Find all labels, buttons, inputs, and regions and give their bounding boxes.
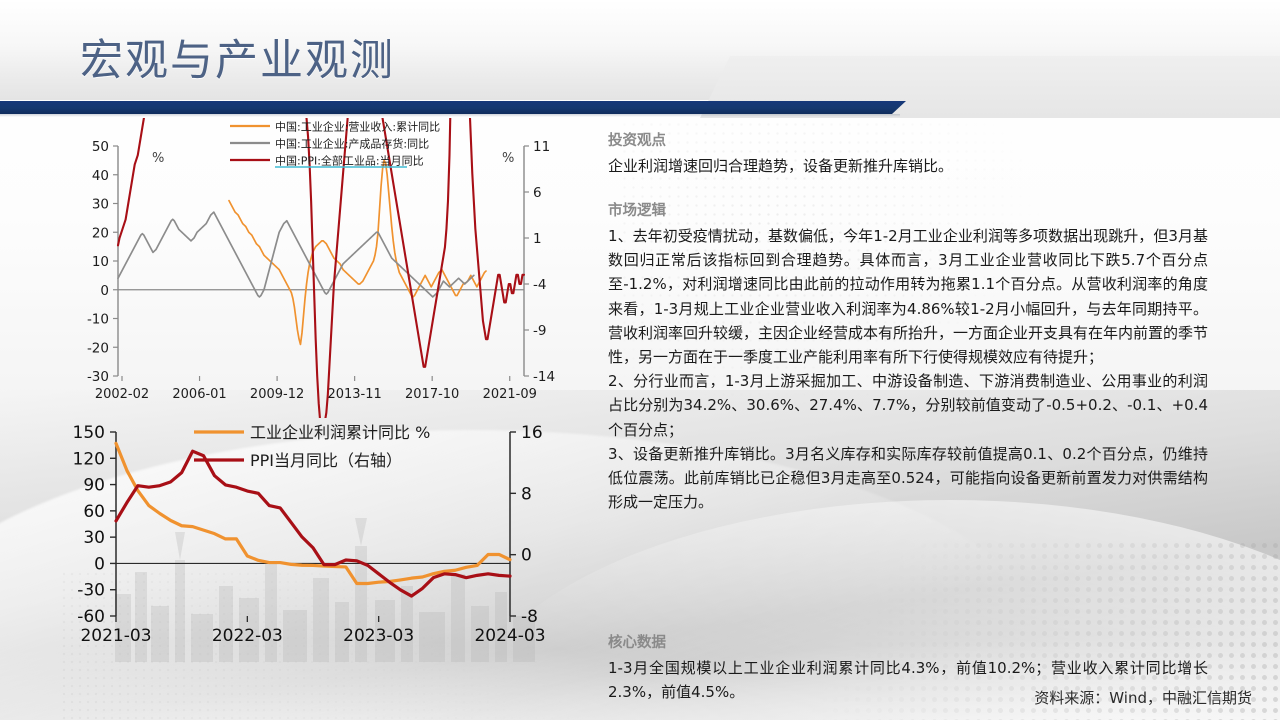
investment-view-heading: 投资观点 xyxy=(608,130,1208,152)
chart-bottom-svg: -60-300306090120150-808162021-032022-032… xyxy=(48,420,588,670)
investment-view-block: 投资观点 企业利润增速回归合理趋势，设备更新推升库销比。 xyxy=(608,130,1208,178)
y-axis-unit-left: % xyxy=(152,151,164,166)
ytick-label-left: 120 xyxy=(73,449,105,469)
xtick-label: 2002-02 xyxy=(95,387,149,402)
xtick-label: 2024-03 xyxy=(474,626,545,646)
chart-legend: 中国:工业企业:营业收入:累计同比中国:工业企业:产成品存货:同比中国:PPI:… xyxy=(230,120,440,168)
slide-root: 宏观与产业观测 -30-20-1001020304050-14-9-41611%… xyxy=(0,0,1280,720)
ytick-label-right: 6 xyxy=(533,185,542,201)
ytick-label-left: 30 xyxy=(92,197,109,213)
ytick-label-right: -4 xyxy=(533,277,546,293)
chart-legend: 工业企业利润累计同比 %PPI当月同比（右轴） xyxy=(194,423,430,470)
xtick-label: 2021-03 xyxy=(80,626,151,646)
investment-view-body: 企业利润增速回归合理趋势，设备更新推升库销比。 xyxy=(608,154,1208,178)
ytick-label-left: -20 xyxy=(87,340,109,356)
ytick-label-left: -10 xyxy=(87,312,109,328)
ytick-label-left: 20 xyxy=(92,225,109,241)
ytick-label-left: 90 xyxy=(83,476,105,496)
ytick-label-right: 16 xyxy=(521,423,543,443)
ytick-label-right: 11 xyxy=(533,139,550,155)
xtick-label: 2017-10 xyxy=(405,387,459,402)
ytick-label-left: -30 xyxy=(87,369,109,385)
market-logic-block: 市场逻辑 1、去年初受疫情扰动，基数偏低，今年1-2月工业企业利润等多项数据出现… xyxy=(608,200,1208,514)
market-logic-heading: 市场逻辑 xyxy=(608,200,1208,222)
xtick-label: 2023-03 xyxy=(343,626,414,646)
ytick-label-left: 50 xyxy=(92,139,109,155)
slide-header: 宏观与产业观测 xyxy=(0,0,1280,118)
ytick-label-left: 0 xyxy=(94,554,105,574)
legend-label-1: PPI当月同比（右轴） xyxy=(250,451,402,470)
ytick-label-left: 0 xyxy=(100,283,109,299)
header-band-shadow xyxy=(0,114,900,117)
xtick-label: 2006-01 xyxy=(172,387,226,402)
legend-label-0: 中国:工业企业:营业收入:累计同比 xyxy=(275,120,440,134)
chart-top-container: -30-20-1001020304050-14-9-41611%%2002-02… xyxy=(62,118,582,418)
source-note: 资料来源：Wind，中融汇信期货 xyxy=(1034,687,1252,708)
ytick-label-right: -8 xyxy=(521,607,538,627)
ytick-label-right: 0 xyxy=(521,546,532,566)
legend-label-1: 中国:工业企业:产成品存货:同比 xyxy=(275,137,429,151)
legend-label-2: 中国:PPI:全部工业品:当月同比 xyxy=(275,154,424,168)
page-title: 宏观与产业观测 xyxy=(80,34,395,88)
xtick-label: 2013-11 xyxy=(327,387,381,402)
chart-top-svg: -30-20-1001020304050-14-9-41611%%2002-02… xyxy=(62,118,582,418)
ytick-label-right: -14 xyxy=(533,369,555,385)
y-axis-unit-right: % xyxy=(502,151,514,166)
ytick-label-right: -9 xyxy=(533,323,546,339)
xtick-label: 2021-09 xyxy=(483,387,537,402)
ytick-label-left: -30 xyxy=(77,581,105,601)
chart-bottom-container: -60-300306090120150-808162021-032022-032… xyxy=(48,420,588,670)
ytick-label-left: 40 xyxy=(92,168,109,184)
ytick-label-left: 30 xyxy=(83,528,105,548)
ytick-label-right: 8 xyxy=(521,484,532,504)
ytick-label-left: 60 xyxy=(83,502,105,522)
series-line-1 xyxy=(118,212,474,297)
ytick-label-left: 10 xyxy=(92,254,109,270)
ytick-label-left: -60 xyxy=(77,607,105,627)
xtick-label: 2022-03 xyxy=(212,626,283,646)
core-data-heading: 核心数据 xyxy=(608,632,1208,654)
header-accent-band xyxy=(0,101,906,114)
ytick-label-left: 150 xyxy=(73,423,105,443)
xtick-label: 2009-12 xyxy=(250,387,304,402)
legend-label-0: 工业企业利润累计同比 % xyxy=(250,423,430,442)
market-logic-body: 1、去年初受疫情扰动，基数偏低，今年1-2月工业企业利润等多项数据出现跳升，但3… xyxy=(608,224,1208,514)
ytick-label-right: 1 xyxy=(533,231,542,247)
